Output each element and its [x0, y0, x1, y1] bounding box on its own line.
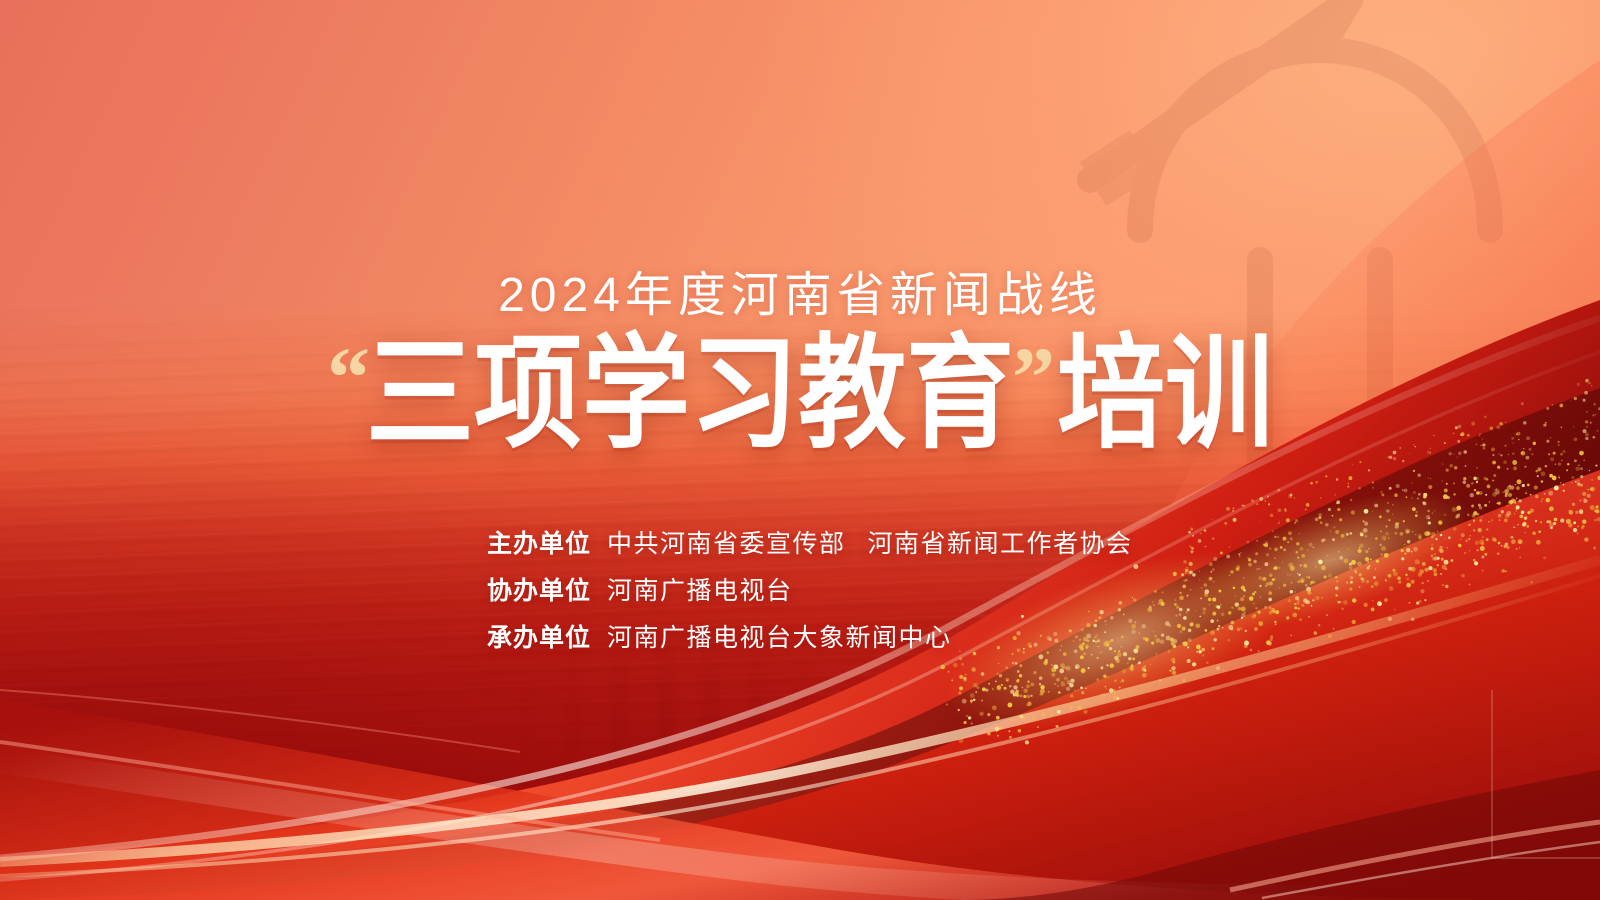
poster-title: “ 三项学习教育 ” 培训: [0, 330, 1600, 441]
credit-row-co-host: 协办单位 河南广播电视台: [487, 571, 1133, 618]
credit-label-organizer: 承办单位: [487, 618, 591, 654]
credit-value-host: 中共河南省委宣传部河南省新闻工作者协会: [607, 524, 1133, 560]
credit-row-organizer: 承办单位 河南广播电视台大象新闻中心: [487, 618, 1133, 665]
credit-value-co-host: 河南广播电视台: [607, 571, 793, 607]
opening-quote-mark: “: [327, 334, 370, 420]
credit-value-host-2: 河南省新闻工作者协会: [868, 530, 1133, 558]
credit-row-host: 主办单位 中共河南省委宣传部河南省新闻工作者协会: [487, 524, 1133, 571]
title-segment-secondary: 培训: [1057, 330, 1273, 457]
organizer-credits: 主办单位 中共河南省委宣传部河南省新闻工作者协会 协办单位 河南广播电视台 承办…: [487, 524, 1133, 665]
credit-value-host-1: 中共河南省委宣传部: [607, 530, 846, 558]
credit-label-co-host: 协办单位: [487, 571, 591, 607]
title-segment-primary: 三项学习教育: [366, 330, 1014, 457]
poster-subtitle: 2024年度河南省新闻战线: [0, 255, 1600, 325]
credit-label-host: 主办单位: [487, 524, 591, 560]
credit-value-organizer: 河南广播电视台大象新闻中心: [607, 618, 952, 654]
event-poster: 2024年度河南省新闻战线 “ 三项学习教育 ” 培训 主办单位 中共河南省委宣…: [0, 0, 1600, 900]
closing-quote-mark: ”: [1012, 334, 1055, 420]
